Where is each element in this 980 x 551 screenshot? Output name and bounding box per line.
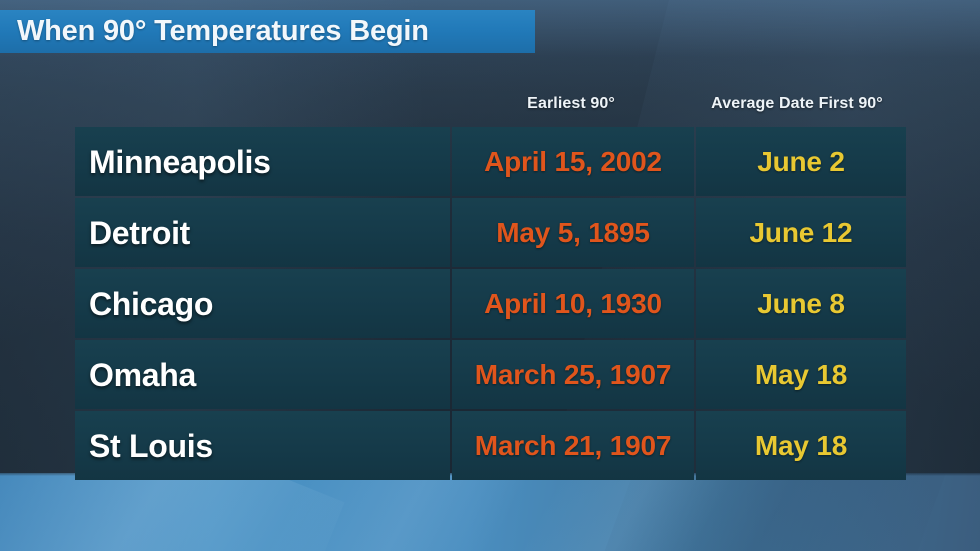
bottom-band-highlight-streak [0, 473, 345, 551]
cell-average: May 18 [696, 411, 906, 480]
city-name: Chicago [89, 288, 213, 320]
table-row: Omaha March 25, 1907 May 18 [75, 340, 902, 409]
city-name: St Louis [89, 430, 213, 462]
average-date: May 18 [755, 361, 847, 389]
average-date: June 12 [750, 219, 853, 247]
table-row: Detroit May 5, 1895 June 12 [75, 198, 902, 267]
title-banner: When 90° Temperatures Begin [0, 10, 535, 53]
cell-average: May 18 [696, 340, 906, 409]
earliest-date: April 10, 1930 [484, 290, 662, 318]
cell-earliest: March 21, 1907 [452, 411, 694, 480]
table-row: Chicago April 10, 1930 June 8 [75, 269, 902, 338]
cell-average: June 2 [696, 127, 906, 196]
cell-earliest: April 10, 1930 [452, 269, 694, 338]
cell-city: Minneapolis [75, 127, 450, 196]
cell-average: June 12 [696, 198, 906, 267]
average-date: May 18 [755, 432, 847, 460]
cell-city: St Louis [75, 411, 450, 480]
cell-earliest: April 15, 2002 [452, 127, 694, 196]
city-name: Detroit [89, 217, 190, 249]
column-header-average: Average Date First 90° [692, 93, 902, 112]
cell-city: Detroit [75, 198, 450, 267]
cell-average: June 8 [696, 269, 906, 338]
cell-city: Omaha [75, 340, 450, 409]
bottom-band-shadow-streak [603, 473, 946, 551]
table-row: St Louis March 21, 1907 May 18 [75, 411, 902, 480]
cell-earliest: March 25, 1907 [452, 340, 694, 409]
earliest-date: May 5, 1895 [496, 219, 649, 247]
average-date: June 2 [757, 148, 845, 176]
page-title: When 90° Temperatures Begin [17, 17, 429, 46]
city-name: Minneapolis [89, 146, 271, 178]
bottom-blue-band [0, 473, 980, 551]
cell-city: Chicago [75, 269, 450, 338]
table-row: Minneapolis April 15, 2002 June 2 [75, 127, 902, 196]
table-header-row: Earliest 90° Average Date First 90° [75, 93, 902, 127]
earliest-date: March 21, 1907 [475, 432, 671, 460]
temperature-table: Earliest 90° Average Date First 90° Minn… [75, 93, 902, 473]
earliest-date: March 25, 1907 [475, 361, 671, 389]
column-header-city [75, 93, 450, 96]
average-date: June 8 [757, 290, 845, 318]
city-name: Omaha [89, 359, 196, 391]
earliest-date: April 15, 2002 [484, 148, 662, 176]
column-header-earliest: Earliest 90° [450, 93, 692, 112]
cell-earliest: May 5, 1895 [452, 198, 694, 267]
